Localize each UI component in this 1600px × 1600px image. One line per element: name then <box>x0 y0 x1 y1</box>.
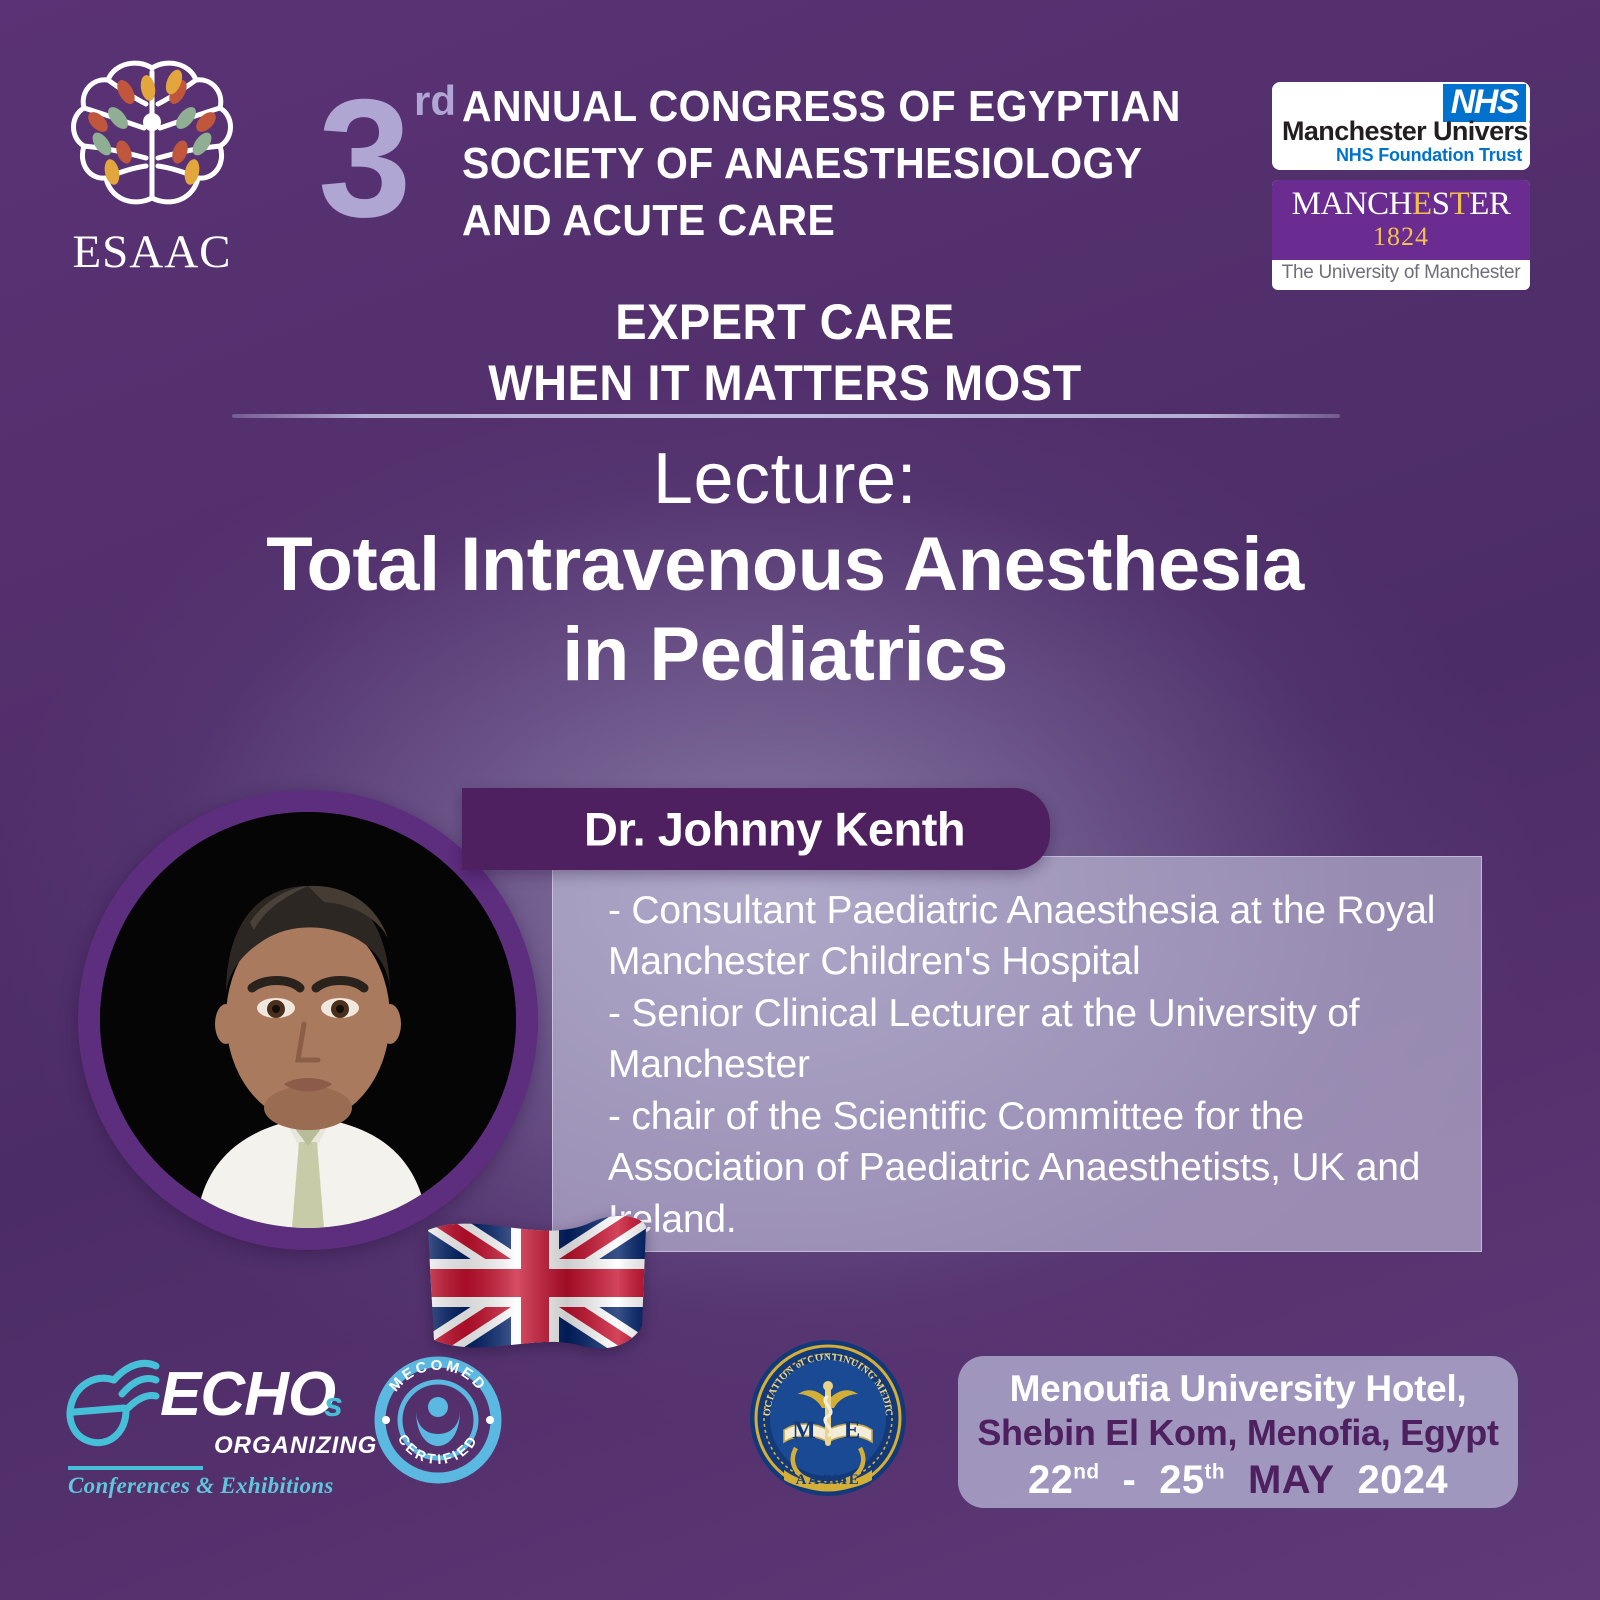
uom-s: S <box>1432 186 1450 222</box>
date-from-suffix: nd <box>1073 1461 1099 1484</box>
date-month: MAY <box>1248 1458 1334 1502</box>
event-dates: 22nd - 25th MAY 2024 <box>958 1458 1518 1503</box>
tagline-line-2: WHEN IT MATTERS MOST <box>263 353 1306 414</box>
venue-city: Shebin El Kom, Menofia, Egypt <box>958 1413 1518 1453</box>
echos-tagline: Conferences & Exhibitions <box>68 1474 334 1497</box>
echo-swoosh-icon <box>62 1350 170 1455</box>
venue-hotel: Menoufia University Hotel, <box>958 1368 1518 1409</box>
speaker-name-banner: Dr. Johnny Kenth <box>462 788 1050 870</box>
mecomed-certified-badge: MECOMED CERTIFIED <box>370 1352 506 1488</box>
venue-and-date-box: Menoufia University Hotel, Shebin El Kom… <box>958 1356 1518 1508</box>
uom-e: E <box>1412 186 1432 222</box>
speaker-portrait <box>100 812 516 1228</box>
header-divider <box>232 414 1340 418</box>
aacme-letter-e: E <box>844 1417 861 1444</box>
date-to-suffix: th <box>1205 1461 1225 1484</box>
uom-t: T <box>1450 186 1470 222</box>
edition-ordinal: 3 rd <box>318 72 463 242</box>
date-from: 22 <box>1028 1458 1073 1502</box>
date-to: 25 <box>1159 1458 1204 1502</box>
esaac-wordmark: ESAAC <box>62 229 242 276</box>
congress-tagline: EXPERT CARE WHEN IT MATTERS MOST <box>263 292 1306 414</box>
nhs-manchester-university-logo: NHS Manchester University NHS Foundation… <box>1272 82 1530 170</box>
nhs-trust-subtitle: NHS Foundation Trust <box>1336 145 1522 166</box>
aacme-letter-m: M <box>792 1417 816 1444</box>
echos-rule <box>68 1466 203 1470</box>
date-year: 2024 <box>1357 1458 1448 1502</box>
uom-m: M <box>1292 186 1321 222</box>
brain-ornament-icon <box>62 52 242 227</box>
edition-suffix: rd <box>414 80 456 122</box>
uom-subtitle: The University of Manchester <box>1272 262 1530 284</box>
uom-er: ER <box>1469 186 1510 222</box>
speaker-avatar <box>100 812 516 1228</box>
nhs-trust-name: Manchester University <box>1282 116 1530 147</box>
date-separator: - <box>1122 1458 1136 1502</box>
conference-announcement-poster: ESAAC 3 rd ANNUAL CONGRESS OF EGYPTIAN S… <box>0 0 1600 1600</box>
lecture-label: Lecture: <box>230 440 1340 519</box>
echos-wordmark: ECHO <box>160 1364 335 1426</box>
aacme-accreditation-seal: AMERICAN ASSOCIATION of CONTINUING MEDIC… <box>748 1338 908 1498</box>
speaker-bio-panel: - Consultant Paediatric Anaesthesia at t… <box>552 856 1482 1252</box>
lecture-title-line-1: Total Intravenous Anesthesia <box>180 520 1390 610</box>
echos-wordmark-suffix: s <box>324 1388 343 1422</box>
university-of-manchester-logo: MANCHESTER 1824 The University of Manche… <box>1272 180 1530 290</box>
uom-founding-year: 1824 <box>1272 224 1530 250</box>
congress-title: ANNUAL CONGRESS OF EGYPTIAN SOCIETY OF A… <box>462 78 1206 250</box>
lecture-title-line-2: in Pediatrics <box>180 610 1390 700</box>
echos-organizer-logo: ECHO s ORGANIZING Conferences & Exhibiti… <box>62 1348 362 1513</box>
person-check-icon <box>416 1397 460 1446</box>
esaac-logo: ESAAC <box>62 52 242 282</box>
edition-number: 3 <box>318 74 407 242</box>
lecture-title: Total Intravenous Anesthesia in Pediatri… <box>180 520 1390 699</box>
speaker-name: Dr. Johnny Kenth <box>584 802 965 857</box>
speaker-bio-text: - Consultant Paediatric Anaesthesia at t… <box>608 885 1478 1245</box>
tagline-line-1: EXPERT CARE <box>263 292 1306 353</box>
uom-anch: ANCH <box>1320 186 1412 222</box>
aacme-banner-text: AACME <box>796 1472 861 1488</box>
uk-flag-icon <box>420 1208 650 1358</box>
uom-wordmark: MANCHESTER <box>1272 188 1530 221</box>
echos-role-label: ORGANIZING <box>214 1434 377 1458</box>
